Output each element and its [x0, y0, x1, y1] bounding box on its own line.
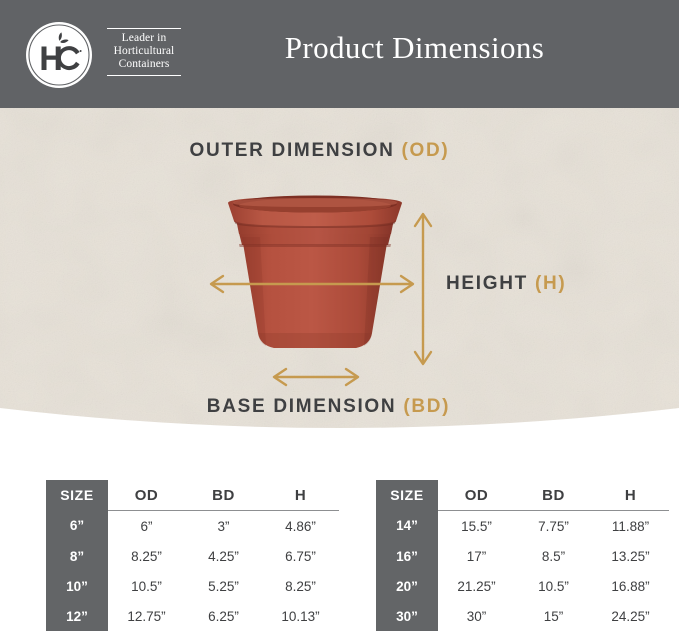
table-row: 12” 12.75” 6.25” 10.13”: [46, 601, 339, 631]
header-bar: Leader in Horticultural Containers Produ…: [0, 0, 679, 108]
cell-bd: 6.25”: [185, 601, 262, 631]
cell-h: 8.25”: [262, 571, 339, 601]
table-row: 8” 8.25” 4.25” 6.75”: [46, 541, 339, 571]
cell-h: 6.75”: [262, 541, 339, 571]
height-text: HEIGHT: [446, 273, 535, 294]
column-header-h: H: [262, 480, 339, 511]
dimensions-table-large: SIZE OD BD H 14” 15.5” 7.75” 11.88” 16” …: [376, 480, 669, 631]
cell-size: 12”: [46, 601, 108, 631]
column-header-od: OD: [108, 480, 185, 511]
cell-od: 17”: [438, 541, 515, 571]
cell-bd: 15”: [515, 601, 592, 631]
dimensions-table-small: SIZE OD BD H 6” 6” 3” 4.86” 8” 8.25” 4.2…: [46, 480, 339, 631]
column-header-size: SIZE: [376, 480, 438, 511]
cell-od: 6”: [108, 511, 185, 542]
column-header-size: SIZE: [46, 480, 108, 511]
outer-dimension-abbr: (OD): [401, 140, 449, 161]
outer-dimension-label: OUTER DIMENSION (OD): [0, 140, 679, 162]
cell-size: 20”: [376, 571, 438, 601]
column-header-bd: BD: [515, 480, 592, 511]
cell-bd: 10.5”: [515, 571, 592, 601]
cell-size: 30”: [376, 601, 438, 631]
cell-od: 10.5”: [108, 571, 185, 601]
table-row: 20” 21.25” 10.5” 16.88”: [376, 571, 669, 601]
table-row: 14” 15.5” 7.75” 11.88”: [376, 511, 669, 542]
cell-h: 10.13”: [262, 601, 339, 631]
cell-od: 21.25”: [438, 571, 515, 601]
height-label: HEIGHT (H): [446, 273, 566, 295]
cell-od: 30”: [438, 601, 515, 631]
cell-bd: 4.25”: [185, 541, 262, 571]
cell-bd: 7.75”: [515, 511, 592, 542]
column-header-bd: BD: [185, 480, 262, 511]
cell-od: 15.5”: [438, 511, 515, 542]
cell-size: 6”: [46, 511, 108, 542]
height-abbr: (H): [535, 273, 566, 294]
base-dimension-text: BASE DIMENSION: [207, 396, 404, 417]
height-arrow: [412, 208, 434, 370]
column-header-od: OD: [438, 480, 515, 511]
table-row: 16” 17” 8.5” 13.25”: [376, 541, 669, 571]
cell-h: 11.88”: [592, 511, 669, 542]
tagline-bottom-rule: [107, 75, 181, 76]
base-dimension-label: BASE DIMENSION (BD): [0, 396, 679, 418]
cell-bd: 3”: [185, 511, 262, 542]
cell-h: 13.25”: [592, 541, 669, 571]
cell-size: 16”: [376, 541, 438, 571]
cell-h: 24.25”: [592, 601, 669, 631]
table-header-row: SIZE OD BD H: [46, 480, 339, 511]
diagram-panel: OUTER DIMENSION (OD) BASE DIMENSION (BD)…: [0, 108, 679, 438]
cell-od: 12.75”: [108, 601, 185, 631]
cell-bd: 8.5”: [515, 541, 592, 571]
page-title: Product Dimensions: [0, 30, 679, 66]
base-dimension-abbr: (BD): [403, 396, 450, 417]
table-header-row: SIZE OD BD H: [376, 480, 669, 511]
cell-size: 14”: [376, 511, 438, 542]
base-dimension-arrow: [268, 366, 364, 388]
table-row: 30” 30” 15” 24.25”: [376, 601, 669, 631]
table-row: 10” 10.5” 5.25” 8.25”: [46, 571, 339, 601]
cell-h: 16.88”: [592, 571, 669, 601]
column-header-h: H: [592, 480, 669, 511]
cell-size: 8”: [46, 541, 108, 571]
cell-h: 4.86”: [262, 511, 339, 542]
cell-size: 10”: [46, 571, 108, 601]
outer-dimension-arrow: [205, 273, 419, 295]
cell-bd: 5.25”: [185, 571, 262, 601]
cell-od: 8.25”: [108, 541, 185, 571]
outer-dimension-text: OUTER DIMENSION: [190, 140, 402, 161]
table-row: 6” 6” 3” 4.86”: [46, 511, 339, 542]
